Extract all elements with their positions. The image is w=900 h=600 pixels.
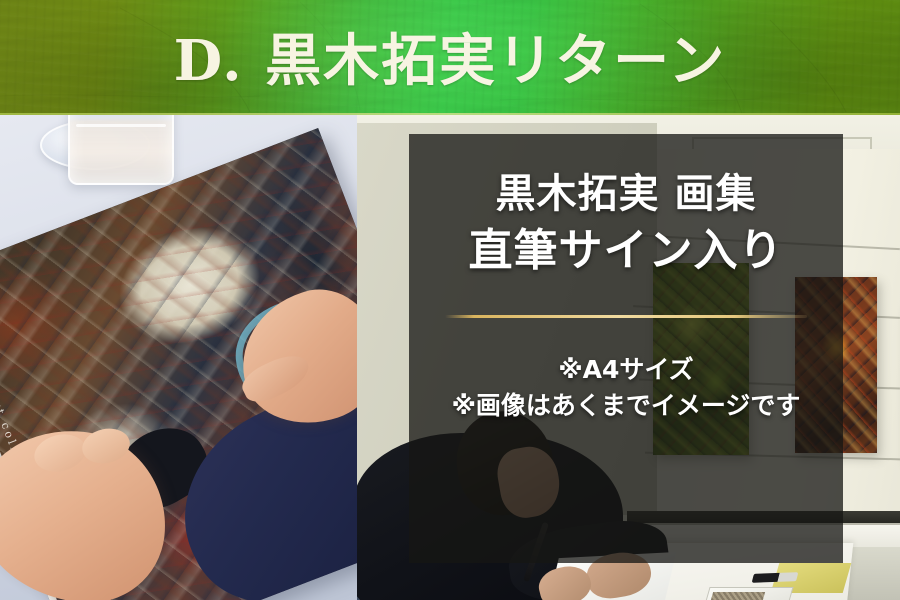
header-banner: D. 黒木拓実リターン (0, 0, 900, 115)
water-glass (68, 115, 174, 185)
overlay-heading-line-1: 黒木拓実 画集 (496, 168, 757, 220)
reward-tier-card: D. 黒木拓実リターン TAKUMI KUROGI art collection (0, 0, 900, 600)
reward-description-overlay: 黒木拓実 画集 直筆サイン入り ※A4サイズ ※画像はあくまでイメージです (409, 134, 843, 563)
overlay-note-disclaimer: ※画像はあくまでイメージです (452, 388, 801, 424)
overlay-heading-line-2: 直筆サイン入り (469, 222, 784, 279)
print-card (700, 587, 793, 600)
overlay-note-size: ※A4サイズ (558, 352, 693, 388)
gold-divider (445, 315, 807, 318)
marker-pen (752, 572, 799, 583)
print-card-image (707, 592, 765, 600)
page-title: D. 黒木拓実リターン (0, 15, 900, 96)
left-photo-art-book: TAKUMI KUROGI art collection (0, 115, 357, 600)
